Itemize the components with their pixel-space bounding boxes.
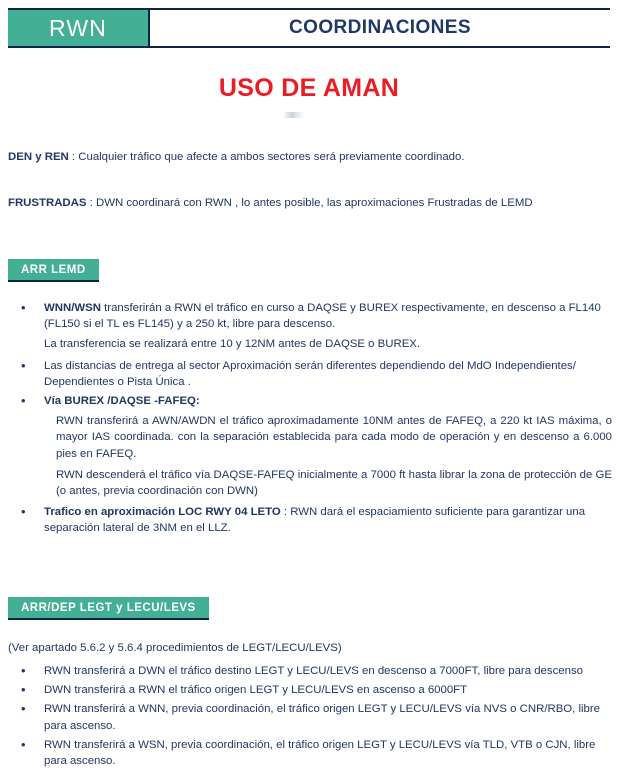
section-note-reference: (Ver apartado 5.6.2 y 5.6.4 procedimient… [8, 641, 342, 656]
bullet-bold-lead: Vía BUREX /DAQSE -FAFEQ: [44, 395, 200, 407]
list-item: WNN/WSN transferirán a RWN el tráfico en… [8, 300, 612, 353]
list-item: RWN transferirá a WSN, previa coordinaci… [8, 737, 612, 769]
page-header: RWN COORDINACIONES [8, 8, 610, 48]
arr-dep-legt-bullet-list: RWN transferirá a DWN el tráfico destino… [8, 663, 612, 769]
list-item: RWN transferirá a DWN el tráfico destino… [8, 663, 612, 679]
bullet-sub-block: RWN transferirá a AWN/AWDN el tráfico ap… [44, 413, 612, 499]
bullet-text: RWN transferirá a WNN, previa coordinaci… [44, 703, 600, 731]
bullet-follow-paragraph: La transferencia se realizará entre 10 y… [44, 336, 612, 352]
list-item: DWN transferirá a RWN el tráfico origen … [8, 682, 612, 698]
bullet-text: Las distancias de entrega al sector Apro… [44, 360, 576, 388]
intro-text-den-ren: : Cualquier tráfico que afecte a ambos s… [69, 151, 465, 163]
intro-label-den-ren: DEN y REN [8, 151, 69, 163]
section-badge-arr-dep-legt: ARR/DEP LEGT y LECU/LEVS [8, 597, 209, 620]
bullet-bold-lead: Trafico en aproximación LOC RWY 04 LETO [44, 506, 281, 518]
section-badge-arr-dep-legt-label: ARR/DEP LEGT y LECU/LEVS [21, 602, 196, 614]
bullet-text: WNN/WSN transferirán a RWN el tráfico en… [44, 302, 601, 330]
page-title: USO DE AMAN [0, 74, 618, 103]
header-sector-label: RWN [49, 15, 107, 42]
bullet-sub-paragraph-2: RWN descenderá el tráfico vía DAQSE-FAFE… [44, 467, 612, 499]
list-item: RWN transferirá a WNN, previa coordinaci… [8, 701, 612, 733]
header-title-container: COORDINACIONES [150, 10, 610, 46]
section-badge-arr-lemd-label: ARR LEMD [21, 264, 86, 276]
bullet-body: transferirán a RWN el tráfico en curso a… [44, 302, 601, 330]
bullet-text: RWN transferirá a DWN el tráfico destino… [44, 665, 583, 677]
bullet-text: Vía BUREX /DAQSE -FAFEQ: [44, 395, 200, 407]
list-item: Las distancias de entrega al sector Apro… [8, 358, 612, 390]
bullet-text: RWN transferirá a WSN, previa coordinaci… [44, 739, 595, 767]
bullet-sub-paragraph-1: RWN transferirá a AWN/AWDN el tráfico ap… [44, 413, 612, 462]
intro-text-frustradas: : DWN coordinará con RWN , lo antes posi… [86, 197, 532, 209]
arr-lemd-bullet-list: WNN/WSN transferirán a RWN el tráfico en… [8, 300, 612, 536]
bullet-text: DWN transferirá a RWN el tráfico origen … [44, 684, 467, 696]
bullet-text: Trafico en aproximación LOC RWY 04 LETO … [44, 506, 585, 534]
list-item: Trafico en aproximación LOC RWY 04 LETO … [8, 504, 612, 536]
intro-paragraph-den-ren: DEN y REN : Cualquier tráfico que afecte… [8, 150, 612, 165]
header-title: COORDINACIONES [289, 17, 471, 39]
bullet-bold-lead: WNN/WSN [44, 302, 101, 314]
header-sector-tab[interactable]: RWN [8, 10, 150, 46]
intro-label-frustradas: FRUSTRADAS [8, 197, 86, 209]
list-item: Vía BUREX /DAQSE -FAFEQ: RWN transferirá… [8, 393, 612, 499]
faint-text-artifact [283, 112, 305, 118]
intro-paragraph-frustradas: FRUSTRADAS : DWN coordinará con RWN , lo… [8, 196, 612, 211]
section-arr-lemd-content: WNN/WSN transferirán a RWN el tráfico en… [8, 300, 612, 539]
section-arr-dep-legt-content: RWN transferirá a DWN el tráfico destino… [8, 663, 612, 772]
section-badge-arr-lemd: ARR LEMD [8, 259, 99, 282]
